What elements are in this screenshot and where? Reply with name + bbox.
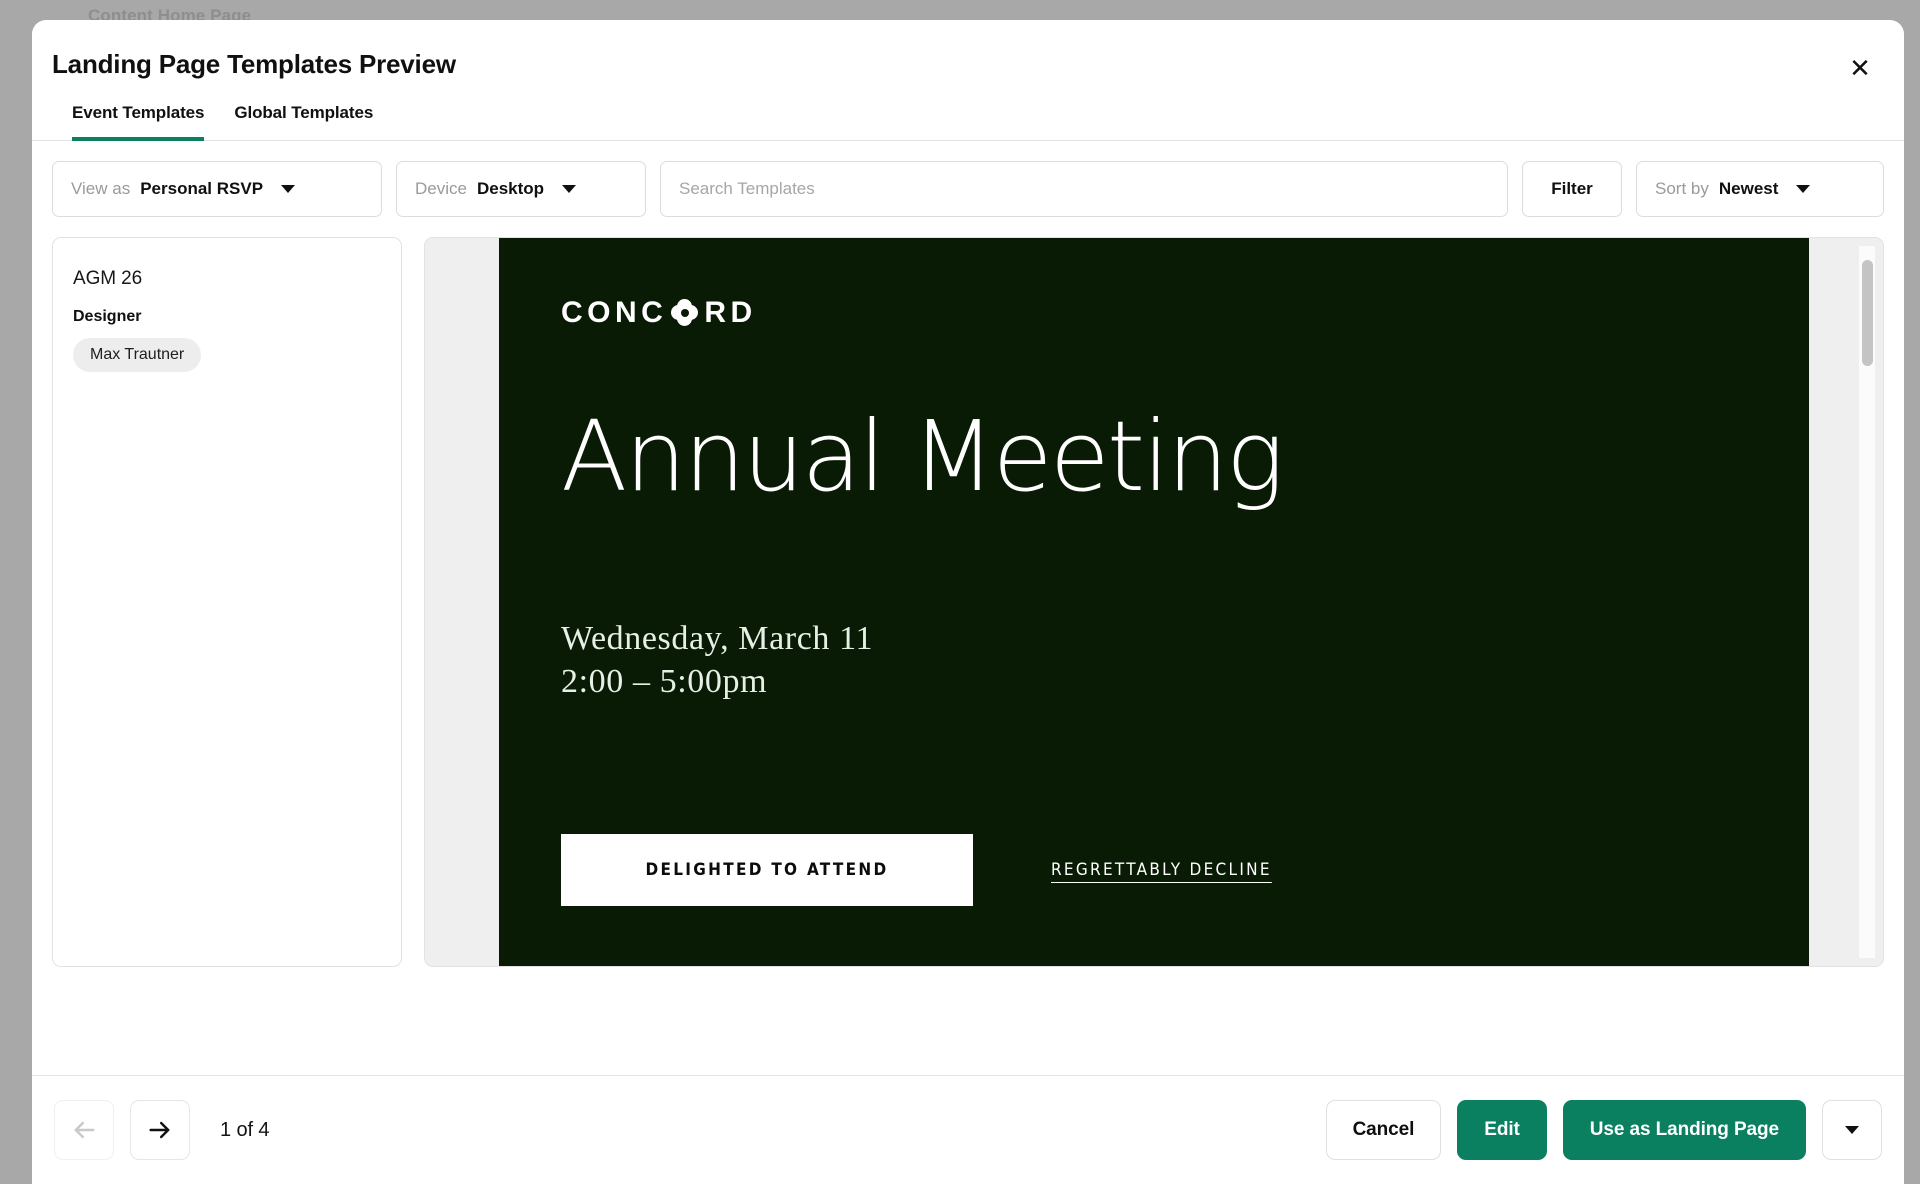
preview-gutter-left xyxy=(425,238,499,966)
sort-by-value: Newest xyxy=(1719,179,1779,199)
close-icon: ✕ xyxy=(1849,55,1871,81)
designer-chip[interactable]: Max Trautner xyxy=(73,338,201,372)
device-value: Desktop xyxy=(477,179,544,199)
preview-hero-title: Annual Meeting xyxy=(561,408,1747,505)
cancel-button[interactable]: Cancel xyxy=(1326,1100,1442,1160)
search-input[interactable] xyxy=(679,179,1489,199)
tab-bar: Event Templates Global Templates xyxy=(52,103,1868,141)
preview-event-time: 2:00 – 5:00pm xyxy=(561,660,1747,704)
view-as-select[interactable]: View as Personal RSVP xyxy=(52,161,382,217)
preview-event-date: Wednesday, March 11 xyxy=(561,617,1747,661)
next-template-button[interactable] xyxy=(130,1100,190,1160)
template-card[interactable]: AGM 26 Designer Max Trautner xyxy=(52,237,402,967)
template-preview-stage: CONC RD Annual Meeting Wednesday, March … xyxy=(424,237,1884,967)
designer-label: Designer xyxy=(73,308,381,326)
use-as-landing-page-button[interactable]: Use as Landing Page xyxy=(1563,1100,1806,1160)
chevron-down-icon xyxy=(281,185,295,193)
filter-button[interactable]: Filter xyxy=(1522,161,1622,217)
view-as-label: View as xyxy=(71,179,130,199)
tab-global-templates[interactable]: Global Templates xyxy=(234,103,373,141)
search-field[interactable] xyxy=(660,161,1508,217)
device-select[interactable]: Device Desktop xyxy=(396,161,646,217)
delighted-to-attend-button[interactable]: DELIGHTED TO ATTEND xyxy=(561,834,973,906)
chevron-down-icon xyxy=(1796,185,1810,193)
preview-scrollbar[interactable] xyxy=(1859,246,1875,958)
preview-scrollbar-thumb[interactable] xyxy=(1862,260,1873,366)
modal-footer: 1 of 4 Cancel Edit Use as Landing Page xyxy=(32,1075,1904,1184)
arrow-right-icon xyxy=(146,1116,174,1144)
modal-header: Landing Page Templates Preview ✕ Event T… xyxy=(32,20,1904,141)
templates-toolbar: View as Personal RSVP Device Desktop Fil… xyxy=(32,141,1904,237)
view-as-value: Personal RSVP xyxy=(140,179,263,199)
landing-page-templates-preview-modal: Landing Page Templates Preview ✕ Event T… xyxy=(32,20,1904,1184)
chevron-down-icon xyxy=(1845,1126,1859,1134)
close-button[interactable]: ✕ xyxy=(1838,46,1882,90)
page-title: Landing Page Templates Preview xyxy=(52,50,1868,79)
brand-text-right: RD xyxy=(704,296,756,330)
concord-logo: CONC RD xyxy=(561,296,1747,330)
chevron-down-icon xyxy=(562,185,576,193)
sort-by-label: Sort by xyxy=(1655,179,1709,199)
edit-button[interactable]: Edit xyxy=(1457,1100,1547,1160)
pager-indicator: 1 of 4 xyxy=(220,1119,269,1142)
preview-gutter-right xyxy=(1809,238,1883,966)
template-preview-canvas: CONC RD Annual Meeting Wednesday, March … xyxy=(499,238,1809,966)
previous-template-button[interactable] xyxy=(54,1100,114,1160)
tab-event-templates[interactable]: Event Templates xyxy=(72,103,204,141)
filter-label: Filter xyxy=(1551,179,1593,199)
clover-flower-icon xyxy=(671,299,698,326)
sort-by-select[interactable]: Sort by Newest xyxy=(1636,161,1884,217)
brand-text-left: CONC xyxy=(561,296,667,330)
modal-body: AGM 26 Designer Max Trautner CONC RD Ann… xyxy=(32,237,1904,1053)
template-card-name: AGM 26 xyxy=(73,268,381,290)
landing-page-options-button[interactable] xyxy=(1822,1100,1882,1160)
preview-cta-row: DELIGHTED TO ATTEND REGRETTABLY DECLINE xyxy=(561,834,1747,906)
arrow-left-icon xyxy=(70,1116,98,1144)
regrettably-decline-link[interactable]: REGRETTABLY DECLINE xyxy=(1051,860,1272,880)
device-label: Device xyxy=(415,179,467,199)
